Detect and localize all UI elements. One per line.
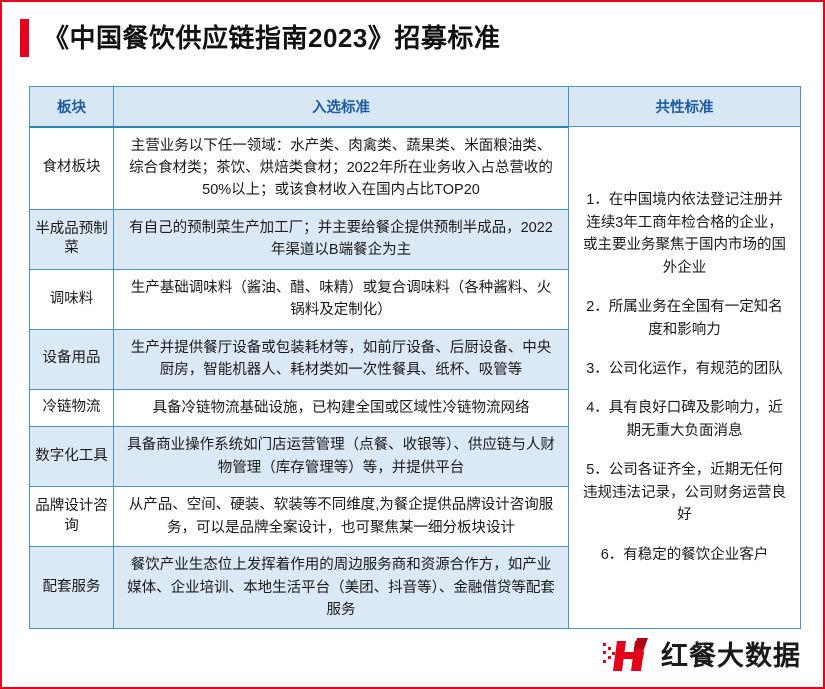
cell-sector: 冷链物流 <box>30 389 114 426</box>
cell-sector: 设备用品 <box>30 329 114 389</box>
criteria-table-wrapper: 板块 入选标准 共性标准 食材板块 主营业务以下任一领域：水产类、肉禽类、蔬果类… <box>29 86 800 629</box>
title-accent-bar <box>20 19 29 57</box>
cell-sector: 配套服务 <box>30 547 114 629</box>
column-header-sector: 板块 <box>30 87 114 127</box>
page-title: 《中国餐饮供应链指南2023》招募标准 <box>43 25 500 51</box>
cell-sector: 食材板块 <box>30 127 114 210</box>
page-content: 《中国餐饮供应链指南2023》招募标准 板块 入选标准 共性标准 <box>2 2 823 687</box>
table-header: 板块 入选标准 共性标准 <box>30 87 801 127</box>
cell-sector: 半成品预制菜 <box>30 209 114 269</box>
cell-sector: 调味料 <box>30 269 114 329</box>
brand-logo: 红餐大数据 <box>601 635 801 677</box>
cell-criteria: 从产品、空间、硬装、软装等不同维度,为餐企提供品牌设计咨询服务，可以是品牌全案设… <box>114 487 569 547</box>
common-criteria-item: 6．有稳定的餐饮企业客户 <box>581 544 788 566</box>
page-frame: 《中国餐饮供应链指南2023》招募标准 板块 入选标准 共性标准 <box>0 0 825 689</box>
cell-criteria: 有自己的预制菜生产加工厂；并主要给餐企提供预制半成品，2022年渠道以B端餐企为… <box>114 209 569 269</box>
common-criteria-list: 1．在中国境内依法登记注册并连续3年工商年检合格的企业，或主要业务聚焦于国内市场… <box>581 189 788 566</box>
cell-criteria: 生产并提供餐厅设备或包装耗材等，如前厅设备、后厨设备、中央厨房，智能机器人、耗材… <box>114 329 569 389</box>
page-title-row: 《中国餐饮供应链指南2023》招募标准 <box>20 16 500 60</box>
table-body: 食材板块 主营业务以下任一领域：水产类、肉禽类、蔬果类、米面粮油类、综合食材类；… <box>30 127 801 629</box>
column-header-criteria: 入选标准 <box>114 87 569 127</box>
criteria-table: 板块 入选标准 共性标准 食材板块 主营业务以下任一领域：水产类、肉禽类、蔬果类… <box>29 86 801 629</box>
brand-wordmark: 红餐大数据 <box>661 643 801 670</box>
cell-sector: 数字化工具 <box>30 427 114 487</box>
common-criteria-item: 4．具有良好口碑及影响力，近期无重大负面消息 <box>581 397 788 442</box>
common-criteria-item: 5．公司各证齐全，近期无任何违规违法记录，公司财务运营良好 <box>581 459 788 526</box>
cell-criteria: 主营业务以下任一领域：水产类、肉禽类、蔬果类、米面粮油类、综合食材类；茶饮、烘焙… <box>114 127 569 210</box>
table-header-row: 板块 入选标准 共性标准 <box>30 87 801 127</box>
hongcan-h-icon <box>601 637 653 675</box>
cell-criteria: 具备商业操作系统如门店运营管理（点餐、收银等）、供应链与人财物管理（库存管理等）… <box>114 427 569 487</box>
table-row: 食材板块 主营业务以下任一领域：水产类、肉禽类、蔬果类、米面粮油类、综合食材类；… <box>30 127 801 210</box>
column-header-common: 共性标准 <box>569 87 801 127</box>
cell-sector: 品牌设计咨询 <box>30 487 114 547</box>
cell-criteria: 具备冷链物流基础设施，已构建全国或区域性冷链物流网络 <box>114 389 569 426</box>
common-criteria-item: 3．公司化运作，有规范的团队 <box>581 358 788 380</box>
common-criteria-item: 1．在中国境内依法登记注册并连续3年工商年检合格的企业，或主要业务聚焦于国内市场… <box>581 189 788 279</box>
cell-criteria: 餐饮产业生态位上发挥着作用的周边服务商和资源合作方，如产业媒体、企业培训、本地生… <box>114 547 569 629</box>
cell-common-criteria: 1．在中国境内依法登记注册并连续3年工商年检合格的企业，或主要业务聚焦于国内市场… <box>569 127 801 629</box>
cell-criteria: 生产基础调味料（酱油、醋、味精）或复合调味料（各种酱料、火锅料及定制化） <box>114 269 569 329</box>
common-criteria-item: 2．所属业务在全国有一定知名度和影响力 <box>581 296 788 341</box>
